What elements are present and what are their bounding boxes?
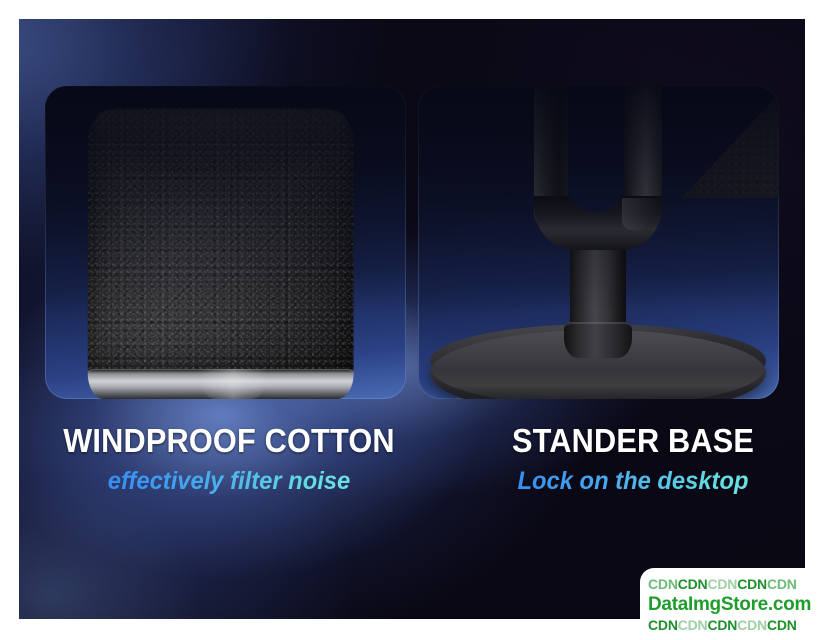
product-feature-banner: WINDPROOF COTTON effectively filter nois… <box>0 0 824 640</box>
foam-ring-sheen <box>199 369 268 399</box>
feature-panel-stander-base[interactable] <box>418 86 779 399</box>
stand-yoke-inner-gap <box>568 86 624 212</box>
caption-subtitle-windproof-cotton: effectively filter noise <box>48 466 411 496</box>
corner-foam-windscreen <box>643 86 779 198</box>
corner-foam-texture <box>643 86 779 198</box>
watermark-brand: DataImgStore.com <box>648 594 824 616</box>
banner-stage: WINDPROOF COTTON effectively filter nois… <box>19 19 805 619</box>
caption-row: WINDPROOF COTTON effectively filter nois… <box>38 423 805 496</box>
foam-texture <box>87 108 353 378</box>
foam-windscreen-illustration <box>87 108 353 399</box>
feature-panel-row <box>45 86 779 399</box>
caption-title-windproof-cotton: WINDPROOF COTTON <box>51 423 406 460</box>
caption-block-windproof-cotton: WINDPROOF COTTON effectively filter nois… <box>38 423 436 496</box>
caption-subtitle-stander-base: Lock on the desktop <box>452 466 805 496</box>
watermark-bottom-line: CDNCDNCDNCDNCDN <box>648 616 824 635</box>
feature-panel-windproof-cotton[interactable] <box>45 86 406 399</box>
stand-post <box>570 236 626 332</box>
caption-title-stander-base: STANDER BASE <box>455 423 805 460</box>
stand-post-collar <box>564 322 632 358</box>
watermark-top-line: CDNCDNCDNCDNCDN <box>648 575 824 594</box>
stand-base-illustration <box>418 86 779 399</box>
foam-body <box>87 108 353 378</box>
foam-metal-ring <box>87 369 353 399</box>
stand-yoke-highlight <box>622 198 666 230</box>
caption-block-stander-base: STANDER BASE Lock on the desktop <box>436 423 805 496</box>
watermark-badge: CDNCDNCDNCDNCDN DataImgStore.com CDNCDNC… <box>640 568 824 640</box>
